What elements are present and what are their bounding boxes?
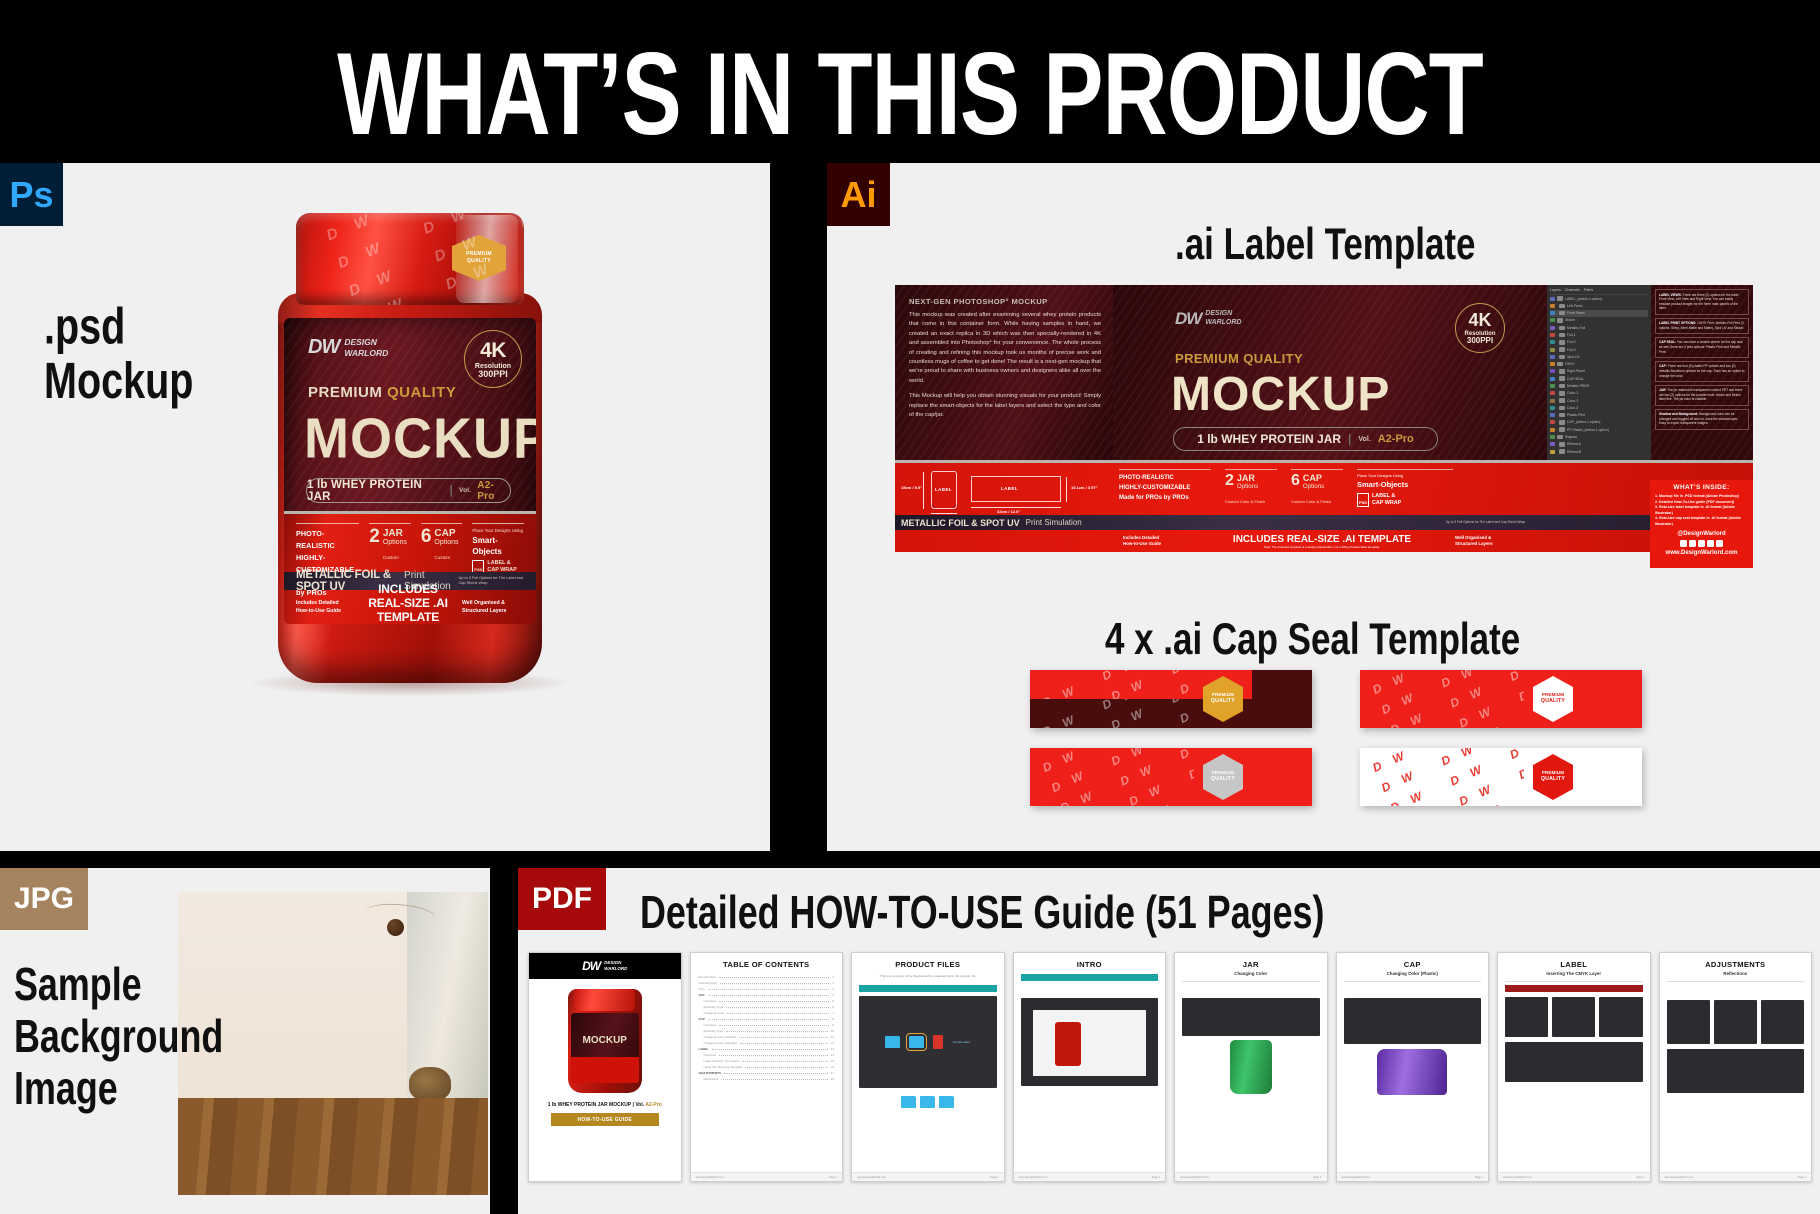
toc-entry-title: Changing Color <box>699 1011 725 1015</box>
toc-page-number: 9 <box>832 1023 834 1027</box>
whats-inside-title: WHAT'S INSIDE: <box>1655 484 1748 491</box>
seal-badge: PREMIUMQUALITY <box>1524 670 1582 728</box>
eye-icon[interactable] <box>1550 297 1555 301</box>
folder-icon <box>1559 340 1565 345</box>
toc-entry-title: JAR <box>699 993 705 997</box>
dribbble-icon[interactable] <box>1716 540 1723 547</box>
toc-dots <box>724 1073 828 1074</box>
jar-cap-with-seal: PREMIUM QUALITY <box>296 213 524 305</box>
folder-icon <box>885 1036 900 1048</box>
adjustments-screenshot-2 <box>1667 1049 1805 1093</box>
layer-name: Color-2 <box>1567 399 1578 403</box>
seal-white: PREMIUMQUALITY <box>1360 670 1642 728</box>
pdf-page-cap[interactable]: CAP Changing Color (Plastic) www.DesignW… <box>1336 952 1490 1182</box>
toc-entry-title: Using The Resizing Template <box>699 1065 743 1069</box>
dw-monogram: DW <box>308 336 339 359</box>
toc-page-number: 4 <box>832 993 834 997</box>
layer-name: Ribbed-B <box>1567 450 1581 454</box>
cap-highlight <box>456 215 518 303</box>
layer-name: CAP-SEAL <box>1567 377 1584 381</box>
folder-icon <box>1559 326 1565 331</box>
folder-icon <box>1559 442 1565 447</box>
pdf-page-intro[interactable]: INTRO www.DesignWarlord.comPage 1 <box>1013 952 1167 1182</box>
cover-brand-bar: DW DESIGNWARLORD <box>529 953 681 979</box>
toc-entry[interactable]: Changing Color (Metallic)12 <box>699 1041 835 1045</box>
instagram-icon[interactable] <box>1680 540 1687 547</box>
pdf-guide-title: Detailed HOW-TO-USE Guide (51 Pages) <box>640 888 1324 940</box>
eye-icon[interactable] <box>1550 406 1555 410</box>
cover-guide-button[interactable]: HOW-TO-USE GUIDE <box>551 1113 659 1126</box>
toc-dots <box>726 1031 828 1032</box>
layer-row[interactable]: Foil-3 <box>1550 346 1648 353</box>
layer-name: Foil-3 <box>1567 348 1575 352</box>
ai-variant-pill: 1 lb WHEY PROTEIN JAR | Vol. A2-Pro <box>1173 427 1438 451</box>
photo-pinecone <box>409 1067 451 1101</box>
folder-icon <box>1557 362 1563 367</box>
folder-icon <box>1559 355 1565 360</box>
layer-row[interactable]: Plastic-Print <box>1550 412 1648 419</box>
toc-entry[interactable]: ADJUSTMENTS17 <box>699 1071 835 1075</box>
toc-entry[interactable]: Overview9 <box>699 1023 835 1027</box>
ai-desc-para1: This mockup was created after examining … <box>909 311 1101 386</box>
layer-row[interactable]: Ribbed-A <box>1550 441 1648 448</box>
ai-capseal-template-title: 4 x .ai Cap Seal Template <box>1105 615 1520 666</box>
psd-jar-mockup: DW DESIGNWARLORD 4K Resolution 300PPI PR… <box>278 213 542 683</box>
toc-dots <box>708 989 830 990</box>
seal-invert: PREMIUMQUALITY <box>1360 748 1642 806</box>
eye-icon[interactable] <box>1550 413 1555 417</box>
toc-entry[interactable]: Reflections18 <box>699 1077 835 1081</box>
toc-entry-title: Selecting Type <box>699 1029 724 1033</box>
folder-icon <box>1559 376 1565 381</box>
premium-quality-line: PREMIUM QUALITY <box>308 384 456 401</box>
photo-wood-floor <box>178 1098 488 1195</box>
note-shadow-background: Shadow and Background: Background color … <box>1655 409 1749 430</box>
layer-row[interactable]: Color-1 <box>1550 390 1648 397</box>
eye-icon[interactable] <box>1550 355 1555 359</box>
ai-photoshop-panels: Layers Channels Paths LABEL_(select-1-op… <box>1547 285 1753 460</box>
layer-row[interactable]: Ribbed-B <box>1550 448 1648 455</box>
folder-icon <box>1559 398 1565 403</box>
layer-row[interactable]: Color-3 <box>1550 404 1648 411</box>
toc-page-number: 11 <box>831 1035 834 1039</box>
toc-entry-title: Product Files <box>699 975 717 979</box>
ai-feature-cap-options: 6 CAP Options Custom Color & Finish <box>1291 469 1343 508</box>
dw-monogram: DW <box>1175 309 1201 329</box>
layer-row[interactable]: Color-2 <box>1550 397 1648 404</box>
premium-quality-hex-icon: PREMIUMQUALITY <box>1533 676 1573 722</box>
pdf-page-product-files[interactable]: PRODUCT FILES This is a summary of the f… <box>851 952 1005 1182</box>
ai-bottom-band: Includes DetailedHow-to-Use Guide INCLUD… <box>895 530 1753 552</box>
cover-jar-thumb: MOCKUP <box>568 989 642 1093</box>
dim-arrow-v-left <box>923 472 924 509</box>
folder-icon <box>1559 406 1565 411</box>
layer-row[interactable]: Sticker <box>1550 317 1648 324</box>
ai-feature-band: LABEL LABEL 15cm / 5.9" 10.6cm / 4.17" 1… <box>895 460 1753 515</box>
eye-icon[interactable] <box>1550 362 1555 366</box>
toc-entry[interactable]: Selecting Type6 <box>699 1005 835 1009</box>
eye-icon[interactable] <box>1550 311 1555 315</box>
toc-dots <box>720 983 829 984</box>
toc-dots <box>740 1043 827 1044</box>
folder-icon <box>1559 369 1565 374</box>
seal-silver: PREMIUMQUALITY <box>1030 748 1312 806</box>
toc-entry[interactable]: Changing Color7 <box>699 1011 835 1015</box>
layer-name: Spot-UV <box>1567 355 1580 359</box>
jpg-panel-label: Sample Background Image <box>14 960 223 1116</box>
premium-quality-hex-icon: PREMIUMQUALITY <box>1203 676 1243 722</box>
toc-dots <box>712 1049 828 1050</box>
ai-feature-photo-realistic: PHOTO-REALISTIC HIGHLY-CUSTOMIZABLE Made… <box>1119 469 1211 504</box>
layer-name: Plastic-Print <box>1567 413 1585 417</box>
eye-icon[interactable] <box>1550 304 1555 308</box>
folder-icon <box>1559 384 1565 389</box>
layer-row[interactable]: Spot-UV <box>1550 353 1648 360</box>
intro-body-text <box>1014 984 1166 995</box>
sample-background-photo <box>178 892 488 1195</box>
whats-inside-box: WHAT'S INSIDE: 1. Mockup file in .PSD fo… <box>1650 480 1753 568</box>
layer-name: Foil-2 <box>1567 340 1575 344</box>
adjustments-body <box>1660 984 1812 995</box>
ai-desc-para2: This Mockup will help you obtain stunnin… <box>909 392 1101 420</box>
toc-page-number: 17 <box>831 1071 834 1075</box>
pdf-page-label[interactable]: LABEL Inserting The CMYK Layer www.Desig… <box>1497 952 1651 1182</box>
toc-page-number: 16 <box>831 1065 834 1069</box>
dim-arrow-h-jar <box>931 513 957 514</box>
toc-page-number: 15 <box>831 1059 834 1063</box>
toc-page-number: 8 <box>832 1017 834 1021</box>
premium-quality-hex-icon: PREMIUMQUALITY <box>1203 754 1243 800</box>
label-page-accent-bar <box>1505 985 1643 992</box>
layers-panel-tabs[interactable]: Layers Channels Paths <box>1550 288 1648 295</box>
dw-pattern <box>1030 670 1194 699</box>
toc-entry[interactable]: Overview5 <box>699 999 835 1003</box>
dw-pattern <box>1030 699 1194 728</box>
toc-entry-title: CAP <box>699 1017 705 1021</box>
folder-icon <box>1557 296 1563 301</box>
note-cap: CAP: There are four (4) plastic PP optio… <box>1655 361 1749 382</box>
dw-wordmark: DESIGNWARLORD <box>344 337 388 358</box>
seal-badge: PREMIUMQUALITY <box>1194 748 1252 806</box>
eye-icon[interactable] <box>1550 442 1555 446</box>
toc-dots <box>708 1019 829 1020</box>
dw-pattern <box>1360 670 1524 728</box>
dim-arrow-h-label <box>971 507 1061 508</box>
toc-entry-title: Overview <box>699 1053 717 1057</box>
jar-label-artwork: DW DESIGNWARLORD 4K Resolution 300PPI PR… <box>284 318 536 624</box>
toc-page-number: 10 <box>831 1029 834 1033</box>
tab-layers[interactable]: Layers <box>1550 288 1561 292</box>
folder-icon <box>1559 449 1565 454</box>
folder-icon <box>1559 427 1565 432</box>
folder-icon <box>1559 413 1565 418</box>
toc-entry[interactable]: LABEL13 <box>699 1047 835 1051</box>
eye-icon[interactable] <box>1550 318 1555 322</box>
ai-feature-smart-objects: Place Your Designs Using Smart-Objects P… <box>1357 469 1453 507</box>
ai-brand-lockup: DW DESIGNWARLORD <box>1175 309 1242 329</box>
website-url: www.DesignWarlord.com <box>1655 550 1748 556</box>
eye-icon[interactable] <box>1550 391 1555 395</box>
toc-page-number: 14 <box>831 1053 834 1057</box>
you-are-here-note: You Are Here <box>952 1040 970 1044</box>
toc-dots <box>719 1025 829 1026</box>
toc-dots <box>739 1037 828 1038</box>
ai-resolution-badge: 4K Resolution 300PPI <box>1455 303 1505 353</box>
toc-entry-title: Overview <box>699 1023 717 1027</box>
behance-icon[interactable] <box>1707 540 1714 547</box>
toc-entry[interactable]: Using The Resizing Template16 <box>699 1065 835 1069</box>
folder-icon <box>909 1036 924 1048</box>
dw-pattern-split <box>1030 670 1194 728</box>
dw-pattern <box>1252 670 1312 728</box>
pdf-page-thumbnails: DW DESIGNWARLORD MOCKUP 1 lb WHEY PROTEI… <box>528 952 1812 1182</box>
eye-icon[interactable] <box>1550 377 1555 381</box>
eye-icon[interactable] <box>1550 384 1555 388</box>
note-label-print-options: LABEL PRINT OPTIONS: CMYK Print, Metalli… <box>1655 318 1749 334</box>
seal-gold: PREMIUMQUALITY <box>1030 670 1312 728</box>
toc-entry-title: Intro <box>699 987 705 991</box>
toc-entry[interactable]: Product Files1 <box>699 975 835 979</box>
ai-foil-strip: METALLIC FOIL & SPOT UV Print Simulation… <box>895 515 1753 530</box>
layer-row[interactable]: Left-Panel <box>1550 302 1648 309</box>
premium-quality-hex-icon: PREMIUMQUALITY <box>1533 754 1573 800</box>
psd-panel-label: .psd Mockup <box>44 300 193 410</box>
layer-row[interactable]: CAP-SEAL <box>1550 375 1648 382</box>
toc-dots <box>745 1067 827 1068</box>
toc-page-number: 5 <box>832 999 834 1003</box>
toc-page-number: 6 <box>832 1005 834 1009</box>
ai-dimensions-diagram: LABEL LABEL 15cm / 5.9" 10.6cm / 4.17" 1… <box>895 463 1113 515</box>
folder-icon <box>1557 318 1563 323</box>
eye-icon[interactable] <box>1550 340 1555 344</box>
toc-entry-title: Selecting Type <box>699 1005 724 1009</box>
toc-entry[interactable]: CAP8 <box>699 1017 835 1021</box>
inside-item: 4. Real-size cap seal template in .AI fo… <box>1655 516 1748 527</box>
seal-badge: PREMIUMQUALITY <box>1524 748 1582 806</box>
eye-icon[interactable] <box>1550 369 1555 373</box>
layers-panel[interactable]: Layers Channels Paths LABEL_(select-1-op… <box>1547 285 1651 460</box>
toc-entry-title: ADJUSTMENTS <box>699 1071 722 1075</box>
note-cap-seal: CAP SEAL: You can have a custom sleeve f… <box>1655 337 1749 358</box>
eye-icon[interactable] <box>1550 333 1555 337</box>
dim-height-text: 15cm / 5.9" <box>901 485 922 490</box>
product-files-accent-bar <box>859 985 997 992</box>
layer-row[interactable]: Foil-2 <box>1550 339 1648 346</box>
pinterest-icon[interactable] <box>1698 540 1705 547</box>
dw-pattern <box>1030 748 1194 806</box>
layer-name: CMYK <box>1565 362 1575 366</box>
eye-icon[interactable] <box>1550 326 1555 330</box>
eye-icon[interactable] <box>1550 428 1555 432</box>
layer-row[interactable]: Regular <box>1550 433 1648 440</box>
layer-row[interactable]: PP-Plastic_(select-1-option) <box>1550 426 1648 433</box>
layer-name: Front-Panel <box>1567 311 1585 315</box>
layer-name: Metallic-Foil <box>1567 326 1585 330</box>
toc-entry[interactable]: Label Inserting The Layers15 <box>699 1059 835 1063</box>
folder-icon <box>1559 304 1565 309</box>
ai-label-artwork: DW DESIGNWARLORD 4K Resolution 300PPI PR… <box>1113 285 1547 460</box>
toc-entry-title: Changing Color (Plastic) <box>699 1035 737 1039</box>
psd-label-line1: .psd <box>44 299 125 356</box>
toc-entry-title: Changing Color (Metallic) <box>699 1041 738 1045</box>
illustrator-badge-icon: Ai <box>827 163 890 226</box>
toc-dots <box>721 1079 827 1080</box>
product-files-diagram: You Are Here <box>859 996 997 1088</box>
whats-inside-list: 1. Mockup file in .PSD format (Adobe Pho… <box>1655 494 1748 527</box>
toc-dots <box>727 1013 829 1014</box>
jar-page-screenshot-1 <box>1182 998 1320 1036</box>
folder-icon <box>1557 435 1563 440</box>
social-handle: @DesignWarlord <box>1655 531 1748 537</box>
note-label-views: LABEL VIEWS: There are three (3) options… <box>1655 289 1749 315</box>
dim-flat-label-tag: LABEL <box>1001 486 1018 491</box>
pdf-page-jar[interactable]: JAR Changing Color www.DesignWarlord.com… <box>1174 952 1328 1182</box>
label-page-screenshots <box>1505 997 1643 1037</box>
eye-icon[interactable] <box>1550 450 1555 454</box>
toc-entry[interactable]: Overview14 <box>699 1053 835 1057</box>
cap-page-purple-cap <box>1377 1049 1447 1095</box>
dim-arrow-v-right <box>1066 477 1067 502</box>
ai-description-column: NEXT-GEN PHOTOSHOP° MOCKUP This mockup w… <box>895 285 1113 460</box>
cover-caption: 1 lb WHEY PROTEIN JAR MOCKUP | Vol. A2-P… <box>529 1098 681 1111</box>
folder-icon <box>1559 311 1565 316</box>
toc-entry[interactable]: Selecting Type10 <box>699 1029 835 1033</box>
jar-page-green-jar <box>1230 1040 1272 1094</box>
layer-row[interactable]: LABEL_(select-1-option) <box>1550 295 1648 302</box>
pdf-page-adjustments[interactable]: ADJUSTMENTS Reflections www.DesignWarlor… <box>1659 952 1813 1182</box>
ai-feature-jar-options: 2 JAR Options Custom Color & Finish <box>1225 469 1277 508</box>
adjustments-screenshots <box>1667 1000 1805 1044</box>
folder-icon <box>1559 420 1565 425</box>
intro-screenshot <box>1021 998 1159 1086</box>
toc-entries: Product Files1Included Files2Intro3JAR4O… <box>691 971 843 1087</box>
toc-dots <box>719 1055 828 1056</box>
intro-accent-bar <box>1021 974 1159 981</box>
layer-row[interactable]: CMYK <box>1550 361 1648 368</box>
resolution-badge: 4K Resolution 300PPI <box>464 330 522 388</box>
dw-pattern <box>1582 670 1642 728</box>
layer-row[interactable]: Metallic-Foil <box>1550 324 1648 331</box>
pdf-page-toc[interactable]: TABLE OF CONTENTS Product Files1Included… <box>690 952 844 1182</box>
eye-icon[interactable] <box>1550 435 1555 439</box>
jar-brand-lockup: DW DESIGNWARLORD <box>308 336 388 359</box>
toc-dots <box>719 1001 829 1002</box>
layer-name: Right-Panel <box>1567 369 1585 373</box>
toc-entry[interactable]: Changing Color (Plastic)11 <box>699 1035 835 1039</box>
label-page-screenshot-2 <box>1505 1042 1643 1082</box>
seal-badge: PREMIUMQUALITY <box>1194 670 1252 728</box>
layer-row[interactable]: Front-Panel <box>1550 310 1648 317</box>
layer-row[interactable]: Right-Panel <box>1550 368 1648 375</box>
toc-dots <box>742 1061 828 1062</box>
ai-desc-heading: NEXT-GEN PHOTOSHOP° MOCKUP <box>909 297 1101 306</box>
layer-name: CAP_(select-1-option) <box>1567 420 1600 424</box>
dim-label-width-text: 32cm / 12.6" <box>997 509 1020 514</box>
tab-channels[interactable]: Channels <box>1565 288 1580 292</box>
layer-name: Color-3 <box>1567 406 1578 410</box>
toc-entry[interactable]: Intro3 <box>699 987 835 991</box>
eye-icon[interactable] <box>1550 348 1555 352</box>
toc-page-number: 12 <box>831 1041 834 1045</box>
photoshop-badge-icon: Ps <box>0 163 63 226</box>
ai-label-template-title: .ai Label Template <box>1175 220 1475 271</box>
layer-name: Ribbed-A <box>1567 442 1581 446</box>
toc-entry-title: Included Files <box>699 981 718 985</box>
toc-entry[interactable]: Included Files2 <box>699 981 835 985</box>
layer-name: LABEL_(select-1-option) <box>1565 297 1602 301</box>
toc-entry-title: Label Inserting The Layers <box>699 1059 739 1063</box>
product-files-swatches <box>852 1092 1004 1112</box>
psd-label-line2: Mockup <box>44 354 193 411</box>
layer-row[interactable]: CAP_(select-1-option) <box>1550 419 1648 426</box>
cap-seal-badge-icon: PREMIUM QUALITY <box>452 235 506 281</box>
toc-entry-title: LABEL <box>699 1047 709 1051</box>
layer-name: Metallic-PRINT <box>1567 384 1590 388</box>
layer-row[interactable]: Foil-1 <box>1550 331 1648 338</box>
toc-entry-title: Overview <box>699 999 717 1003</box>
ai-mockup-wordmark: MOCKUP <box>1171 367 1390 422</box>
folder-icon <box>1559 347 1565 352</box>
layer-name: Regular <box>1565 435 1577 439</box>
jar-variant-pill: 1 lb WHEY PROTEIN JAR | Vol. A2-Pro <box>306 478 511 503</box>
page-title: WHAT’S IN THIS PRODUCT <box>55 28 1766 162</box>
facebook-icon[interactable] <box>1689 540 1696 547</box>
toc-page-number: 18 <box>831 1077 834 1081</box>
toc-dots <box>726 1007 829 1008</box>
jar-bottom-band: Includes DetailedHow-to-Use Guide INCLUD… <box>284 591 536 624</box>
toc-entry-title: Reflections <box>699 1077 719 1081</box>
psd-file-icon <box>933 1035 943 1049</box>
tab-paths[interactable]: Paths <box>1584 288 1593 292</box>
toc-page-number: 1 <box>832 975 834 979</box>
social-icons[interactable] <box>1655 540 1748 547</box>
jpg-badge-icon: JPG <box>0 868 88 930</box>
layer-name: Sticker <box>1565 318 1575 322</box>
folder-icon <box>1559 333 1565 338</box>
dim-label-height-text: 10.1cm / 3.97" <box>1071 485 1098 490</box>
jar-page-body <box>1175 984 1327 995</box>
eye-icon[interactable] <box>1550 420 1555 424</box>
cap-page-body <box>1337 984 1489 995</box>
toc-page-number: 13 <box>831 1047 834 1051</box>
layer-name: Color-1 <box>1567 391 1578 395</box>
toc-dots <box>719 977 829 978</box>
eye-icon[interactable] <box>1550 399 1555 403</box>
inside-item: 3. Real-size label template in .AI forma… <box>1655 505 1748 516</box>
feature-smart-objects: Place Your Designs Using Smart-Objects P… <box>472 523 524 574</box>
dim-jar-label-tag: LABEL <box>935 487 952 492</box>
jar-mockup-wordmark: MOCKUP <box>304 406 536 471</box>
layer-name: Foil-1 <box>1567 333 1575 337</box>
layer-name: Left-Panel <box>1567 304 1582 308</box>
folder-icon <box>1559 391 1565 396</box>
dw-pattern <box>1360 748 1524 806</box>
pdf-page-cover[interactable]: DW DESIGNWARLORD MOCKUP 1 lb WHEY PROTEI… <box>528 952 682 1182</box>
cap-page-screenshot <box>1344 998 1482 1044</box>
psd-file-icon: PSD LABEL &CAP WRAP <box>1357 493 1453 507</box>
dw-pattern <box>1582 748 1642 806</box>
toc-page-number: 2 <box>832 981 834 985</box>
ai-notes-column: LABEL VIEWS: There are three (3) options… <box>1651 285 1753 460</box>
layer-row[interactable]: Metallic-PRINT <box>1550 382 1648 389</box>
toc-entry[interactable]: JAR4 <box>699 993 835 997</box>
note-jar: JAR: The jar material is transparent col… <box>1655 385 1749 406</box>
toc-page-number: 3 <box>832 987 834 991</box>
toc-page-number: 7 <box>832 1011 834 1015</box>
layer-name: PP-Plastic_(select-1-option) <box>1567 428 1609 432</box>
dw-pattern <box>1252 748 1312 806</box>
toc-dots <box>708 995 830 996</box>
